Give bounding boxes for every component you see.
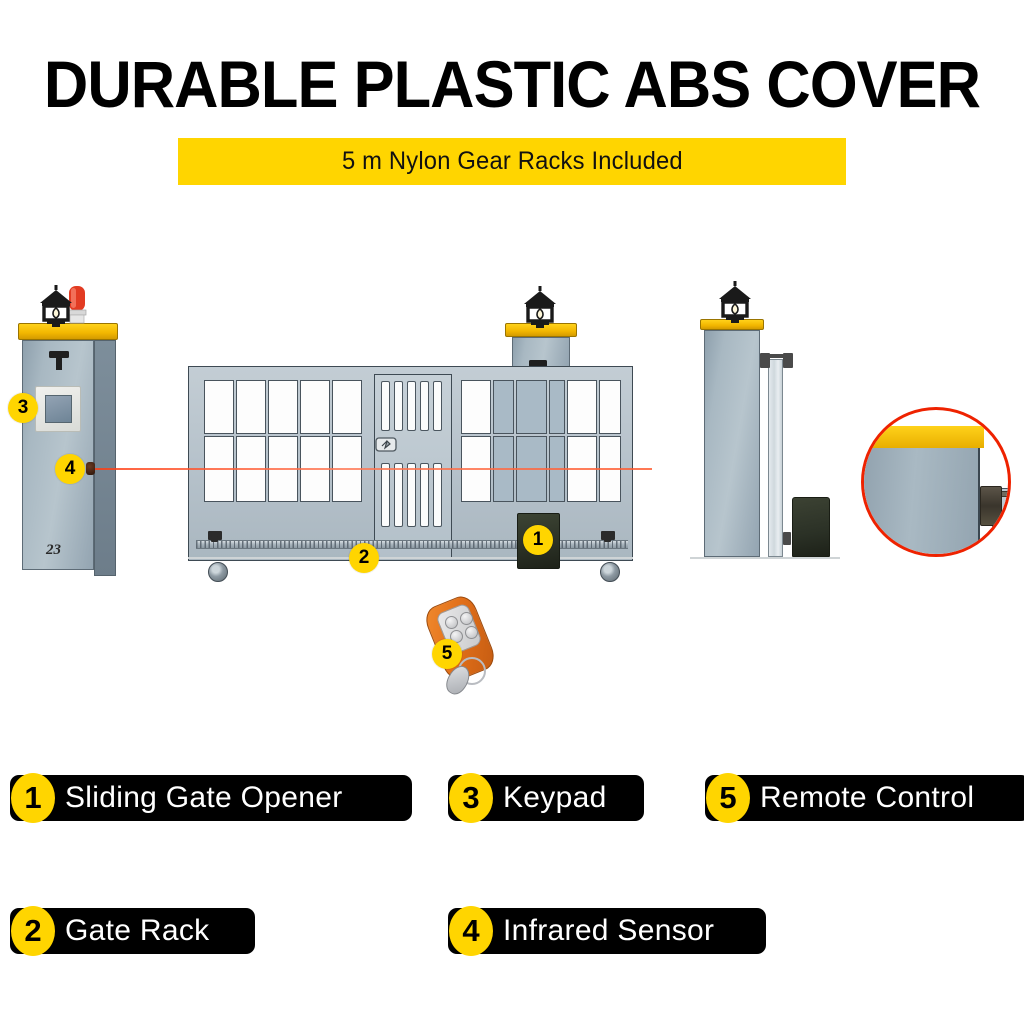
gate-panel (204, 380, 234, 434)
remote-button[interactable] (460, 612, 473, 625)
door-slat (394, 463, 403, 527)
post-roller-bottom (783, 532, 791, 545)
subtitle-banner: 5 m Nylon Gear Racks Included (178, 138, 846, 185)
keypad[interactable] (35, 386, 81, 432)
gate-panel (236, 380, 266, 434)
legend-label-3: Keypad (503, 781, 607, 815)
legend-number-2: 2 (11, 906, 55, 956)
rack-teeth (196, 541, 628, 548)
gate-bottom-rail (188, 557, 633, 559)
legend-label-4: Infrared Sensor (503, 914, 714, 948)
subtitle-text: 5 m Nylon Gear Racks Included (342, 147, 683, 176)
legend-item-1: 1 Sliding Gate Opener (10, 775, 412, 821)
pillar-dimension-label: 23 (46, 542, 61, 559)
legend-number-5: 5 (706, 773, 750, 823)
door-slat (407, 381, 416, 431)
door-slat (420, 463, 429, 527)
remote-button[interactable] (445, 616, 458, 629)
legend-label-5: Remote Control (760, 781, 974, 815)
legend-label-2: Gate Rack (65, 914, 209, 948)
door-slat (407, 463, 416, 527)
gate-panel (300, 380, 330, 434)
door-slat (433, 381, 442, 431)
legend-item-4: 4 Infrared Sensor (448, 908, 766, 954)
roller-bracket (604, 536, 611, 542)
marker-badge-2: 2 (349, 543, 379, 573)
door-handle-icon[interactable] (375, 437, 397, 457)
door-slat (381, 381, 390, 431)
legend-label-1: Sliding Gate Opener (65, 781, 343, 815)
ground-line-right (690, 557, 840, 559)
legend: 1 Sliding Gate Opener 3 Keypad 5 Remote … (0, 760, 1024, 1000)
remote-control-fob[interactable]: 5 (420, 595, 530, 705)
lamp-icon (34, 283, 78, 334)
legend-number-4: 4 (449, 906, 493, 956)
gate-panel (332, 380, 362, 434)
product-illustration: 3 4 23 (0, 255, 1024, 725)
gate-panel-shaded (493, 380, 514, 434)
gate-wheel (600, 562, 620, 582)
marker-badge-1: 1 (523, 525, 553, 555)
page-title: DURABLE PLASTIC ABS COVER (36, 46, 988, 122)
roller-bracket (211, 536, 218, 542)
gate-panel-shaded (516, 380, 547, 434)
detail-zoom-circle (861, 407, 1011, 557)
product-infographic: DURABLE PLASTIC ABS COVER 5 m Nylon Gear… (0, 0, 1024, 1024)
marker-badge-3: 3 (8, 393, 38, 423)
pillar-bracket-icon (48, 350, 70, 377)
gate-panel (461, 380, 491, 434)
remote-button[interactable] (465, 626, 478, 639)
bollard-motor-housing (792, 497, 830, 557)
legend-number-3: 3 (449, 773, 493, 823)
gate-panel-shaded (549, 380, 565, 434)
left-pillar-side (94, 340, 116, 576)
legend-item-2: 2 Gate Rack (10, 908, 255, 954)
post-rail-top (765, 354, 791, 358)
gate-panel (268, 380, 298, 434)
door-slat (433, 463, 442, 527)
marker-badge-5: 5 (432, 639, 462, 669)
infrared-sensor-eye (86, 462, 95, 475)
door-slat (394, 381, 403, 431)
infrared-beam (92, 468, 652, 470)
keypad-screen (45, 395, 72, 423)
door-slat (381, 463, 390, 527)
legend-item-3: 3 Keypad (448, 775, 644, 821)
gate-rack (196, 540, 628, 549)
gate-edge-post (768, 359, 783, 557)
gate-panel (567, 380, 597, 434)
detail-guide-roller (980, 486, 1002, 526)
gate-wheel (208, 562, 228, 582)
legend-item-5: 5 Remote Control (705, 775, 1024, 821)
gate-panel (599, 380, 621, 434)
right-pillar-body (704, 330, 760, 557)
door-slat (420, 381, 429, 431)
lamp-icon (713, 279, 757, 330)
detail-pillar (861, 448, 980, 557)
lamp-icon (518, 284, 562, 335)
legend-number-1: 1 (11, 773, 55, 823)
detail-pillar-cap (861, 426, 984, 448)
marker-badge-4: 4 (55, 454, 85, 484)
